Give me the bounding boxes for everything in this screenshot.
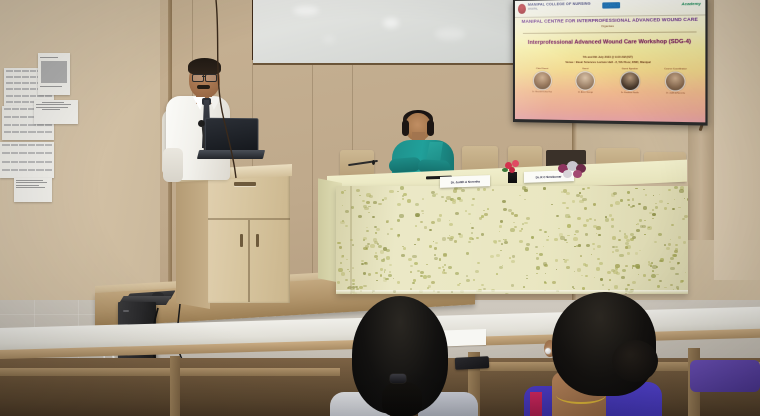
speaker-portrait-icon <box>533 71 552 90</box>
slide-institution-sub: MANIPAL <box>528 8 538 10</box>
slide-speaker-role: Chief Guest <box>525 68 559 70</box>
slide-speaker-name: Dr. Anice George <box>568 92 603 95</box>
speaker-portrait-icon <box>665 71 686 91</box>
bench-leg <box>170 356 180 416</box>
far-right-wall <box>714 0 760 280</box>
slide-speaker: Guest Dr. Anice George <box>568 68 603 94</box>
hair-clip-icon <box>390 374 406 383</box>
wall-whiteboard <box>253 0 518 65</box>
slide-organiser-line: MANIPAL CENTRE FOR INTERPROFESSIONAL ADV… <box>515 17 705 24</box>
slide-venue-line: Venue : Basic Sciences Lecture Hall - 2,… <box>515 61 705 64</box>
attendee-front-left-ponytail <box>382 382 422 416</box>
projection-screen: MANIPAL COLLEGE OF NURSING MANIPAL GOALS… <box>513 0 708 126</box>
presenter-arm <box>163 148 183 182</box>
leaf-icon <box>502 168 508 172</box>
screen-cable <box>190 0 270 180</box>
speaker-portrait-icon <box>620 71 640 91</box>
slide-title: Interprofessional Advanced Wound Care Wo… <box>519 39 701 46</box>
attendee-far-right <box>690 360 760 392</box>
floral-bouquet <box>556 160 590 180</box>
slide-divider <box>523 31 697 33</box>
seated-guest-hair <box>402 120 409 136</box>
slide-speaker: Guest Speaker Dr. Ravikiran Naalla <box>612 68 648 94</box>
slide-speaker-name: Dr. Sharath Kumar Rao <box>525 91 559 94</box>
wall-notice-poster <box>38 53 70 95</box>
slide-speaker-role: Guest Speaker <box>612 68 648 70</box>
attendee-front-right-strap <box>530 392 542 416</box>
slide-date-line: 7th and 8th July 2023 @ 9.00 AM (IST) <box>515 56 705 59</box>
nameplate-left: Dr. Judith A Noronha <box>440 175 490 188</box>
flower-vase <box>508 172 517 183</box>
academy-logo-text: Academy <box>681 1 701 7</box>
speaker-portrait-icon <box>576 71 596 91</box>
lectern-slot <box>234 182 256 186</box>
slide-speaker-name: Dr. Ravikiran Naalla <box>612 92 648 95</box>
presentation-slide: MANIPAL COLLEGE OF NURSING MANIPAL GOALS… <box>515 0 705 122</box>
head-table-cloth <box>336 186 688 294</box>
smartphone-on-desk[interactable] <box>455 356 490 370</box>
wall-notice-certificate <box>34 100 78 124</box>
slide-speaker: Course Coordinator Dr. Judith A Noronha <box>657 68 694 95</box>
lectern-door-gap <box>248 220 250 302</box>
seated-guest-hair <box>427 120 434 136</box>
table-microphone-head <box>372 160 375 165</box>
wall-notice-sheet <box>14 178 52 202</box>
conference-photo-scene: MANIPAL COLLEGE OF NURSING MANIPAL GOALS… <box>0 0 760 416</box>
earring-icon <box>545 348 551 354</box>
slide-organiser-sub: Organises <box>515 24 705 29</box>
attendee-front-right-bun <box>612 340 658 382</box>
lectern-door-handle[interactable] <box>240 234 243 247</box>
lectern-door-handle[interactable] <box>256 234 259 247</box>
slide-speaker-role: Guest <box>568 68 603 70</box>
nameplate-left-text: Dr. Judith A Noronha <box>450 179 479 184</box>
slide-speaker-role: Course Coordinator <box>657 68 694 70</box>
slide-speaker: Chief Guest Dr. Sharath Kumar Rao <box>525 68 559 94</box>
wall-notice-calendar <box>0 142 54 178</box>
sdg-goals-logo-text: GOALS <box>604 2 619 7</box>
red-rose-icon <box>512 160 519 167</box>
slide-speaker-name: Dr. Judith A Noronha <box>657 92 694 95</box>
slide-speaker-row: Chief Guest Dr. Sharath Kumar Rao Guest … <box>521 68 699 95</box>
red-rose-icon <box>509 167 515 173</box>
manipal-crest-icon <box>518 3 526 13</box>
lectern-side-panel <box>176 167 210 309</box>
